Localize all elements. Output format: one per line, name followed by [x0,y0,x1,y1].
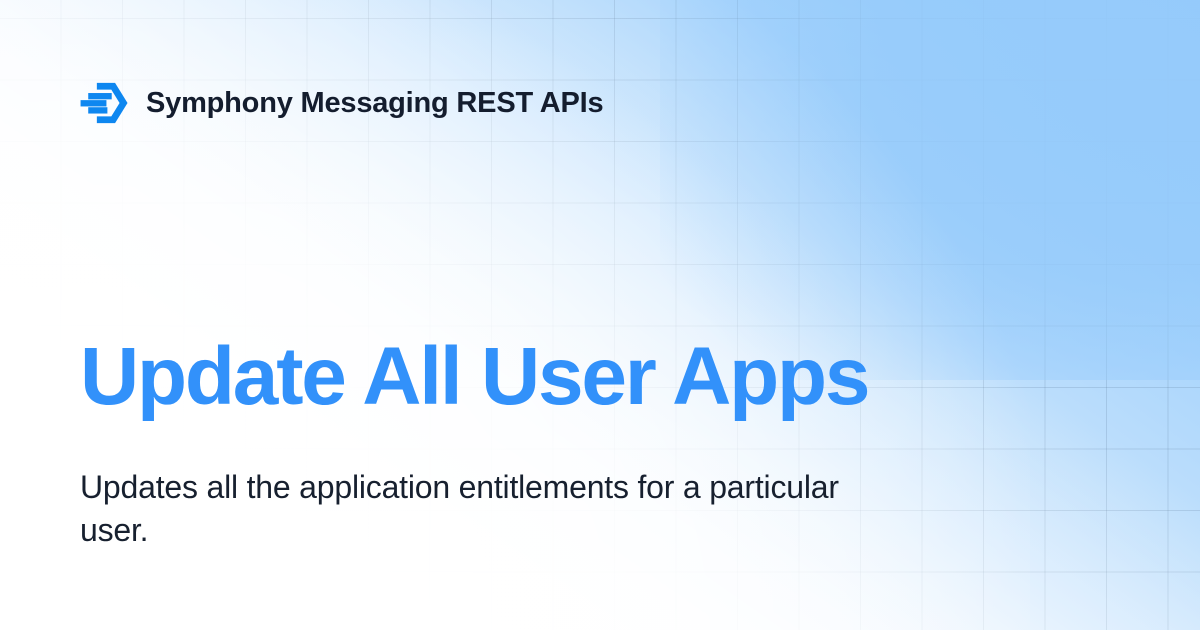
brand-name: Symphony Messaging REST APIs [146,89,603,118]
page-title: Update All User Apps [80,336,868,418]
brand-lockup: Symphony Messaging REST APIs [80,80,603,126]
symphony-chevron-logo-icon [80,80,130,126]
banner-content: Symphony Messaging REST APIs Update All … [0,0,1200,630]
page-description: Updates all the application entitlements… [80,466,870,552]
og-banner: Symphony Messaging REST APIs Update All … [0,0,1200,630]
